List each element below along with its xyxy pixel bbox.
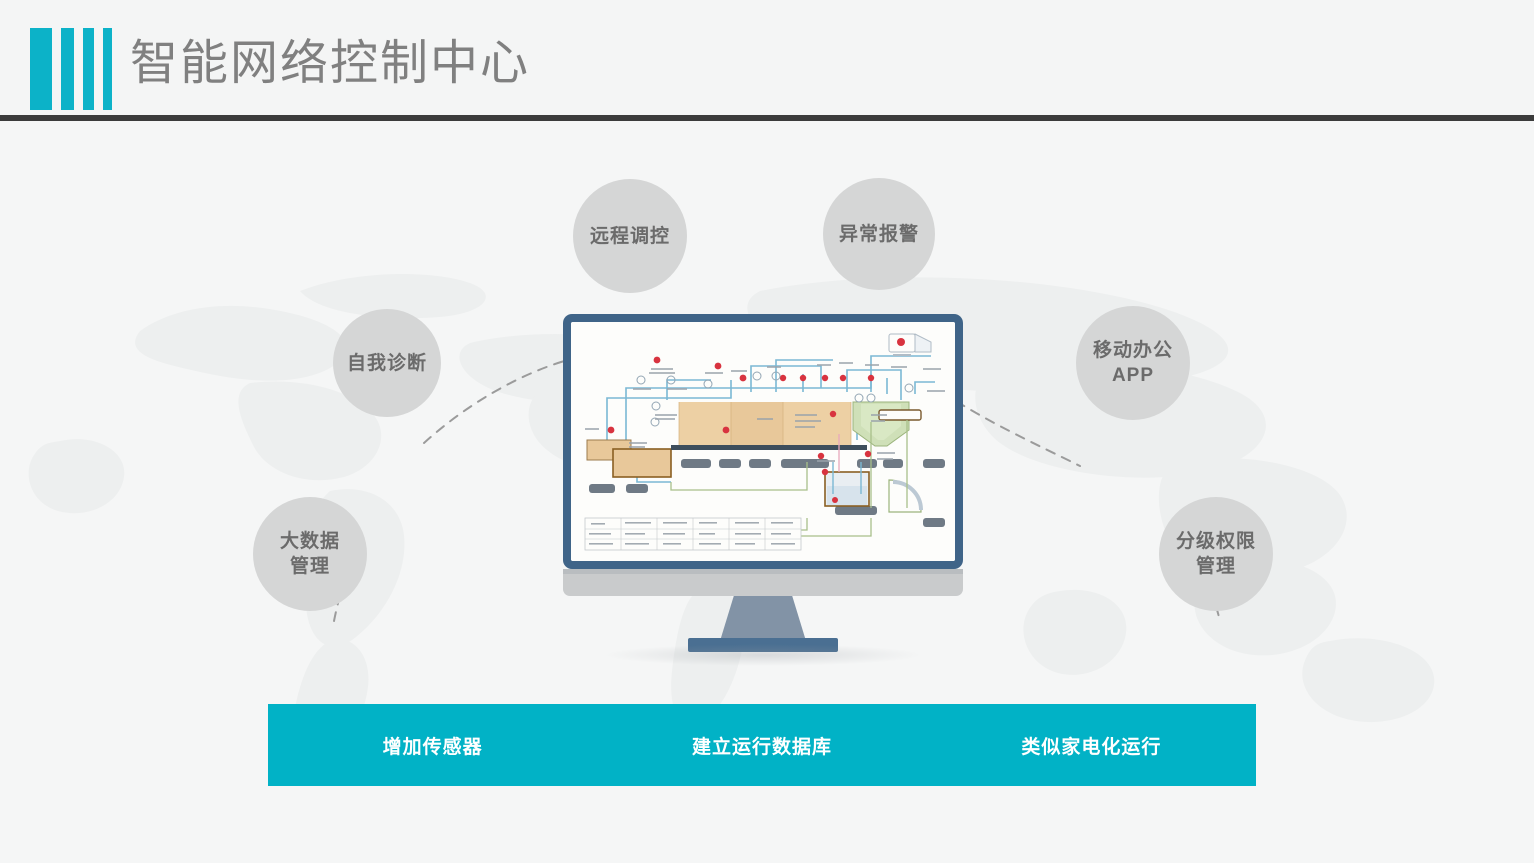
page-header: 智能网络控制中心: [0, 0, 1534, 116]
footer-item-appliance-like-operation[interactable]: 类似家电化运行: [927, 732, 1256, 759]
accent-bar-2: [61, 28, 74, 110]
node-label: APP: [1087, 363, 1179, 388]
node-label: 大数据: [274, 529, 346, 554]
footer-highlight-bar: 增加传感器 建立运行数据库 类似家电化运行: [268, 704, 1256, 786]
monitor-bezel: [563, 314, 963, 569]
process-flow-diagram: [571, 322, 955, 561]
monitor-shadow: [603, 644, 923, 666]
node-label: 异常报警: [833, 222, 925, 247]
node-label: 远程调控: [584, 224, 676, 249]
accent-bar-4: [103, 28, 112, 110]
node-big-data-mgmt[interactable]: 大数据管理: [253, 497, 367, 611]
header-accent-bars: [30, 28, 112, 110]
footer-item-build-database[interactable]: 建立运行数据库: [597, 732, 926, 759]
node-self-diagnosis[interactable]: 自我诊断: [333, 309, 441, 417]
node-remote-control[interactable]: 远程调控: [573, 179, 687, 293]
node-label: 自我诊断: [341, 351, 433, 376]
accent-bar-1: [30, 28, 52, 110]
node-mobile-office-app[interactable]: 移动办公APP: [1076, 306, 1190, 420]
monitor-chin: [563, 569, 963, 596]
node-label: 分级权限: [1170, 529, 1262, 554]
accent-bar-3: [83, 28, 94, 110]
footer-item-add-sensors[interactable]: 增加传感器: [268, 732, 597, 759]
connector-selfdiagnosis-to-remote: [424, 358, 575, 443]
node-abnormal-alarm[interactable]: 异常报警: [823, 178, 935, 290]
node-label: 管理: [274, 554, 346, 579]
node-label: 管理: [1170, 554, 1262, 579]
monitor-screen: [571, 322, 955, 561]
page-title: 智能网络控制中心: [130, 26, 530, 102]
node-tiered-permission[interactable]: 分级权限管理: [1159, 497, 1273, 611]
monitor-neck: [720, 596, 806, 641]
node-label: 移动办公: [1087, 338, 1179, 363]
desktop-monitor: [563, 314, 963, 746]
